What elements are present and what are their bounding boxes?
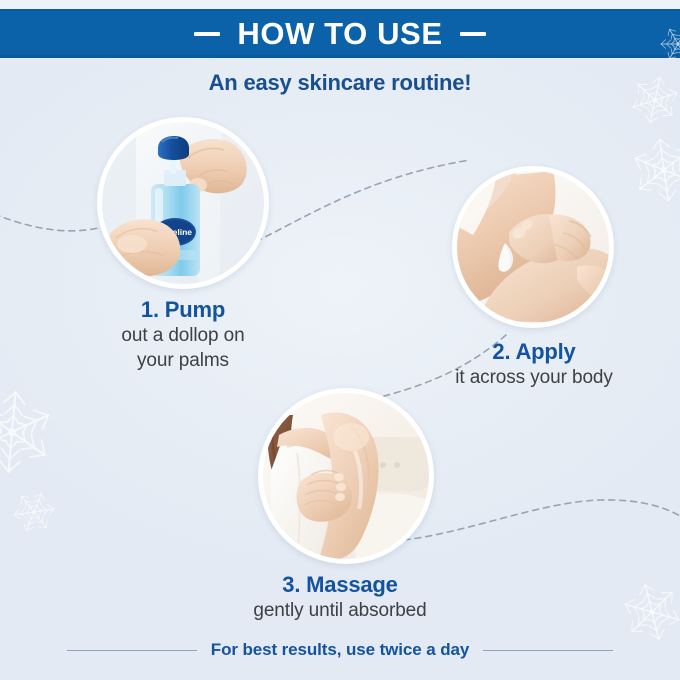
footer-rule-left [67,650,197,651]
dashed-path-step1-to-step2 [246,160,470,246]
step-3-photo [263,393,429,559]
dashed-path-enter-left [0,214,112,231]
step-2-image-circle [452,166,614,328]
header-dash-right-icon [460,32,486,36]
footer-rule-right [483,650,613,651]
top-edge-strip [0,0,680,9]
step-1-photo: Vaseline [102,122,264,284]
step-1-subtext-line2: your palms [83,349,283,373]
step-1-caption: 1. Pump out a dollop on your palms [83,297,283,372]
step-3-subtext-line1: gently until absorbed [212,599,468,623]
step-2-caption: 2. Apply it across your body [419,339,649,390]
step-2-heading: 2. Apply [419,339,649,365]
footer-text: For best results, use twice a day [211,640,469,660]
step-2-subtext-line1: it across your body [419,366,649,390]
how-to-use-infographic: HOW TO USE An easy skincare routine! [0,0,680,680]
step-3-image-circle [258,388,434,564]
step-3-caption: 3. Massage gently until absorbed [212,572,468,623]
step-1-subtext-line1: out a dollop on [83,324,283,348]
footer: For best results, use twice a day [0,640,680,660]
page-title: HOW TO USE [237,18,442,49]
subtitle: An easy skincare routine! [0,70,680,96]
step-3-heading: 3. Massage [212,572,468,598]
header-bar: HOW TO USE [0,9,680,58]
step-1-image-circle: Vaseline [97,117,269,289]
step-2-photo [457,171,609,323]
dashed-path-exit-right [404,500,680,540]
header-dash-left-icon [194,32,220,36]
step-1-heading: 1. Pump [83,297,283,323]
